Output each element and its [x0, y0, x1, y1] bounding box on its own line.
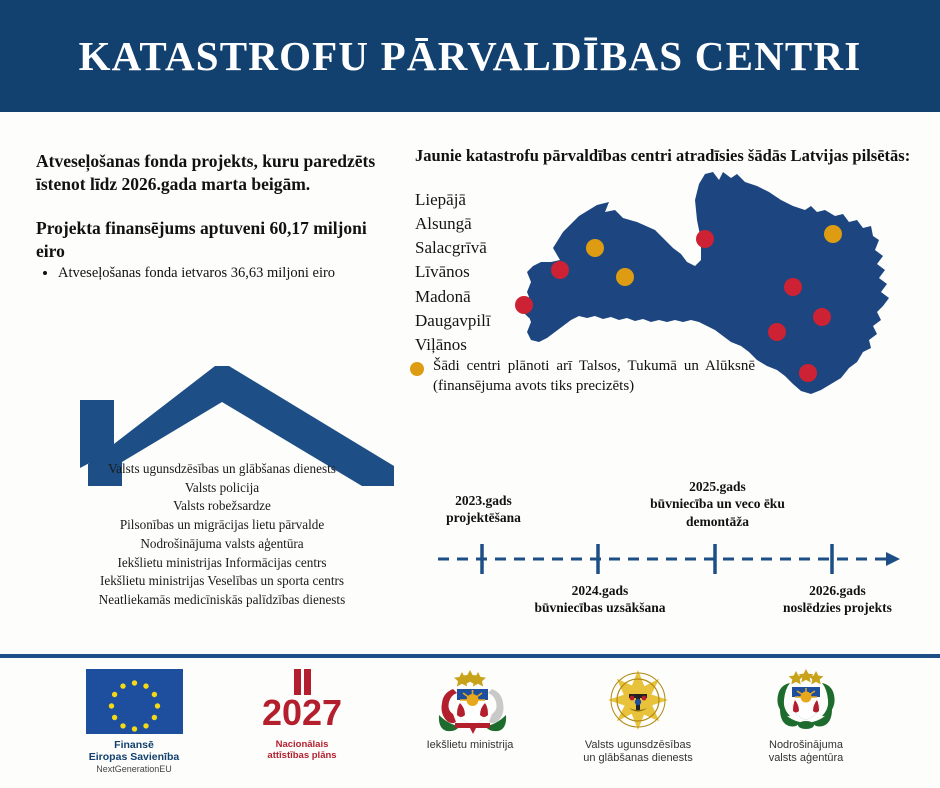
timeline-arrow-head	[886, 552, 900, 566]
caption-line-2: attīstības plāns	[267, 750, 336, 761]
list-item: Neatliekamās medicīniskās palīdzības die…	[20, 591, 424, 610]
logo-caption: Finansē Eiropas Savienība NextGeneration…	[89, 739, 179, 774]
map-marker-red	[799, 364, 817, 382]
caption-line-2: un glābšanas dienests	[583, 752, 692, 765]
map-marker-red	[515, 296, 533, 314]
map-marker-red	[768, 323, 786, 341]
funding-bullet-list: Atveseļošanas fonda ietvaros 36,63 miljo…	[36, 264, 388, 284]
list-item: Atveseļošanas fonda ietvaros 36,63 miljo…	[58, 264, 388, 284]
vugd-emblem-icon	[599, 666, 677, 736]
map-note-text: Šādi centri plānoti arī Talsos, Tukumā u…	[433, 357, 755, 396]
caption-line-2: valsts aģentūra	[769, 752, 844, 765]
timeline-year: 2026.gads	[755, 582, 920, 599]
timeline-label-2025: 2025.gads būvniecība un veco ēku demontā…	[630, 478, 805, 530]
eu-flag-icon	[86, 666, 183, 736]
logo-vugd: Valsts ugunsdzēsības un glābšanas dienes…	[568, 666, 708, 765]
list-item: Iekšlietu ministrijas Veselības un sport…	[20, 572, 424, 591]
timeline-desc: būvniecības uzsākšana	[515, 599, 685, 616]
caption-line-3: NextGenerationEU	[89, 764, 179, 775]
timeline-year: 2023.gads	[416, 492, 551, 509]
map-marker-red	[813, 308, 831, 326]
logo-iekslietu-ministrija: Iekšlietu ministrija	[400, 666, 540, 752]
map-marker-red	[551, 261, 569, 279]
page-title: KATASTROFU PĀRVALDĪBAS CENTRI	[79, 32, 862, 80]
logo-caption: Iekšlietu ministrija	[427, 739, 514, 752]
logo-nap2027: 2027 Nacionālais attīstības plāns	[232, 666, 372, 761]
timeline-desc: projektēšana	[416, 509, 551, 526]
page-header: KATASTROFU PĀRVALDĪBAS CENTRI	[0, 0, 940, 112]
nap-2027-icon: 2027	[252, 666, 352, 736]
list-item: Nodrošinājuma valsts aģentūra	[20, 535, 424, 554]
logo-nva: Nodrošinājuma valsts aģentūra	[736, 666, 876, 765]
caption-line-1: Iekšlietu ministrija	[427, 739, 514, 752]
caption-line-1: Nodrošinājuma	[769, 739, 844, 752]
list-item: Iekšlietu ministrijas Informācijas centr…	[20, 554, 424, 573]
timeline-year: 2025.gads	[630, 478, 805, 495]
timeline-label-2023: 2023.gads projektēšana	[416, 492, 551, 527]
caption-line-2: Eiropas Savienība	[89, 751, 179, 763]
timeline-label-2026: 2026.gads noslēdzies projekts	[755, 582, 920, 617]
timeline-desc: noslēdzies projekts	[755, 599, 920, 616]
map-marker-red	[696, 230, 714, 248]
caption-line-1: Finansē	[89, 739, 179, 751]
cities-heading: Jaunie katastrofu pārvaldības centri atr…	[415, 145, 915, 166]
map-legend-note: Šādi centri plānoti arī Talsos, Tukumā u…	[410, 357, 755, 396]
logo-caption: Valsts ugunsdzēsības un glābšanas dienes…	[583, 739, 692, 765]
latvia-coat-of-arms-icon	[415, 666, 525, 736]
gold-dot-icon	[410, 362, 424, 376]
map-marker-gold	[586, 239, 604, 257]
map-marker-gold	[824, 225, 842, 243]
timeline-year: 2024.gads	[515, 582, 685, 599]
lead-paragraph: Atveseļošanas fonda projekts, kuru pared…	[36, 150, 388, 197]
list-item: Valsts robežsardze	[20, 497, 424, 516]
project-timeline: 2023.gads projektēšana 2025.gads būvniec…	[420, 492, 920, 622]
logo-caption: Nodrošinājuma valsts aģentūra	[769, 739, 844, 765]
agency-list: Valsts ugunsdzēsības un glābšanas dienes…	[20, 460, 424, 610]
map-marker-red	[784, 278, 802, 296]
logo-eu: Finansē Eiropas Savienība NextGeneration…	[64, 666, 204, 774]
caption-line-1: Valsts ugunsdzēsības	[583, 739, 692, 752]
svg-text:2027: 2027	[262, 692, 342, 733]
timeline-label-2024: 2024.gads būvniecības uzsākšana	[515, 582, 685, 617]
timeline-desc: būvniecība un veco ēku demontāža	[630, 495, 805, 530]
map-marker-gold	[616, 268, 634, 286]
infographic-page: KATASTROFU PĀRVALDĪBAS CENTRI Atveseļoša…	[0, 0, 940, 788]
list-item: Valsts policija	[20, 479, 424, 498]
left-column: Atveseļošanas fonda projekts, kuru pared…	[36, 150, 388, 284]
list-item: Valsts ugunsdzēsības un glābšanas dienes…	[20, 460, 424, 479]
footer-divider	[0, 654, 940, 658]
footer-logos: Finansē Eiropas Savienība NextGeneration…	[0, 666, 940, 788]
funding-heading: Projekta finansējums aptuveni 60,17 milj…	[36, 217, 388, 264]
logo-caption: Nacionālais attīstības plāns	[267, 739, 336, 761]
caption-line-1: Nacionālais	[267, 739, 336, 750]
nva-emblem-icon	[756, 666, 856, 736]
list-item: Pilsonības un migrācijas lietu pārvalde	[20, 516, 424, 535]
